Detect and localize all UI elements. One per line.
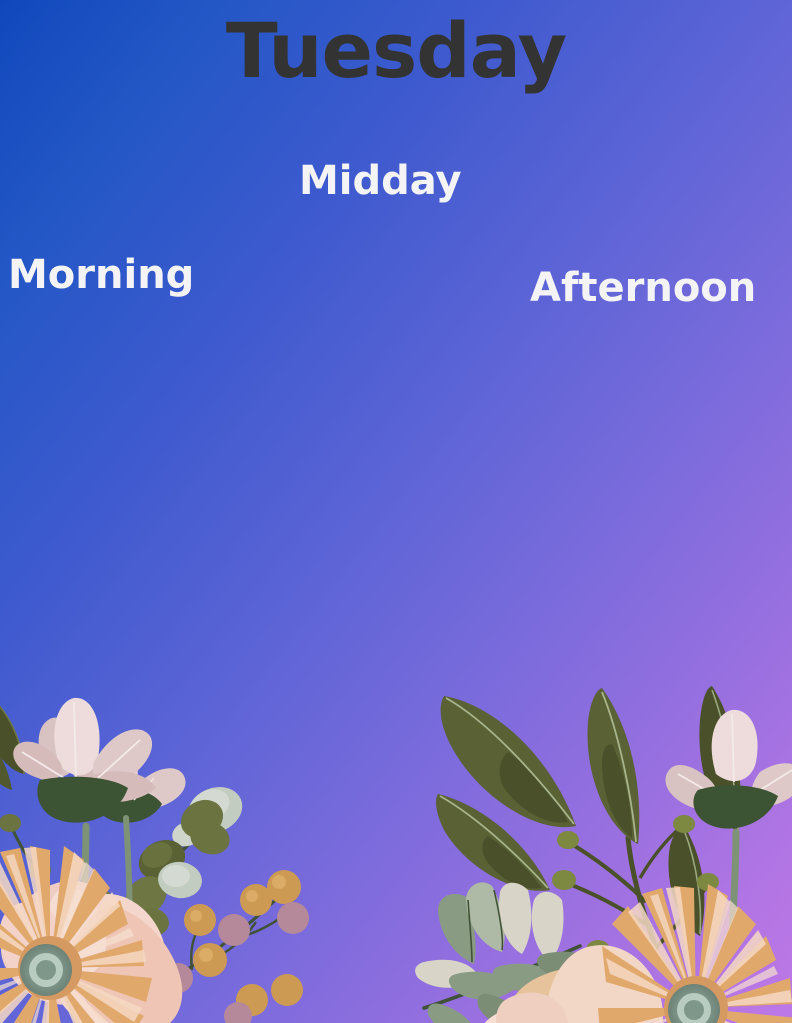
pink-cosmos-flower — [665, 710, 792, 936]
section-label-midday[interactable]: Midday — [299, 158, 462, 204]
blush-petal-bloom — [474, 945, 663, 1023]
section-label-morning[interactable]: Morning — [8, 252, 194, 298]
section-label-afternoon[interactable]: Afternoon — [530, 265, 756, 311]
pink-cosmos-flower-small — [71, 744, 186, 938]
eucalyptus-sprig — [77, 779, 249, 966]
dark-olive-leaf — [0, 688, 24, 790]
bottom-right-floral-cluster — [416, 678, 792, 1023]
large-olive-leaf-branch — [436, 686, 740, 962]
bottom-left-floral-cluster — [0, 678, 324, 1023]
peach-gerbera-daisy — [0, 846, 152, 1023]
planner-page: Tuesday Midday Morning Afternoon — [0, 0, 792, 1023]
pink-cosmos-flower — [13, 698, 156, 968]
page-title: Tuesday — [0, 6, 792, 95]
sage-fern-sprig — [415, 882, 604, 1023]
berry-bud-stems — [0, 814, 51, 931]
peach-gerbera-daisy — [598, 884, 792, 1023]
blush-petal-bloom — [0, 881, 182, 1023]
berry-sprig — [163, 870, 309, 1023]
